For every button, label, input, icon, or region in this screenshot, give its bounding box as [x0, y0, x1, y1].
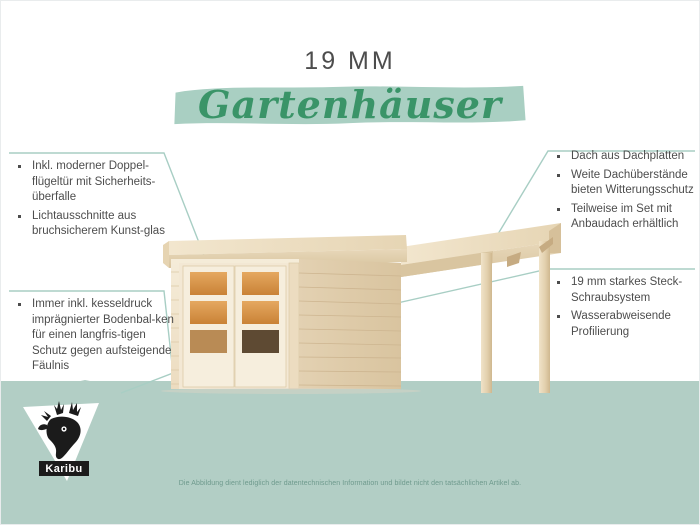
callout-bottom-right: 19 mm starkes Steck-Schraubsystem Wasser… — [554, 275, 700, 343]
door-pane — [242, 330, 279, 353]
callout-bottom-left-list: Immer inkl. kesseldruck imprägnierter Bo… — [15, 297, 175, 375]
door-pane — [190, 272, 227, 295]
callout-bottom-right-list: 19 mm starkes Steck-Schraubsystem Wasser… — [554, 275, 700, 340]
list-item: Lichtausschnitte aus bruchsicherem Kunst… — [15, 209, 175, 240]
garden-house-illustration — [161, 223, 561, 394]
list-item: Dach aus Dachplatten — [554, 149, 700, 165]
door-pane — [190, 330, 227, 353]
callout-bottom-left: Immer inkl. kesseldruck imprägnierter Bo… — [15, 297, 175, 378]
side-wall — [299, 259, 401, 389]
list-item: Wasserabweisende Profilierung — [554, 309, 700, 340]
script-title-wrap: Gartenhäuser — [172, 80, 528, 134]
callout-top-right-list: Dach aus Dachplatten Weite Dachüberständ… — [554, 149, 700, 233]
illustration-overlay: Karibu — [1, 1, 700, 525]
callout-top-left-list: Inkl. moderner Doppel-flügeltür mit Sich… — [15, 159, 175, 240]
karibu-logo: Karibu — [23, 401, 99, 481]
callout-top-left: Inkl. moderner Doppel-flügeltür mit Sich… — [15, 159, 175, 243]
infographic-page: 19 MM Gartenhäuser — [0, 0, 700, 525]
canopy-post-right — [539, 241, 550, 393]
list-item: Teilweise im Set mit Anbaudach erhältlic… — [554, 202, 700, 233]
list-item: 19 mm starkes Steck-Schraubsystem — [554, 275, 700, 306]
list-item: Weite Dachüberstände bieten Witterungssc… — [554, 168, 700, 199]
logo-wordmark: Karibu — [45, 463, 82, 475]
canopy-post-left — [481, 253, 492, 393]
door-pane — [242, 301, 279, 324]
disclaimer-text: Die Abbildung dient lediglich der datent… — [1, 480, 699, 487]
door-pane — [190, 301, 227, 324]
callout-top-right: Dach aus Dachplatten Weite Dachüberständ… — [554, 149, 700, 236]
list-item: Inkl. moderner Doppel-flügeltür mit Sich… — [15, 159, 175, 206]
list-item: Immer inkl. kesseldruck imprägnierter Bo… — [15, 297, 175, 375]
page-title-script: Gartenhäuser — [198, 82, 502, 128]
door-pane — [242, 272, 279, 295]
